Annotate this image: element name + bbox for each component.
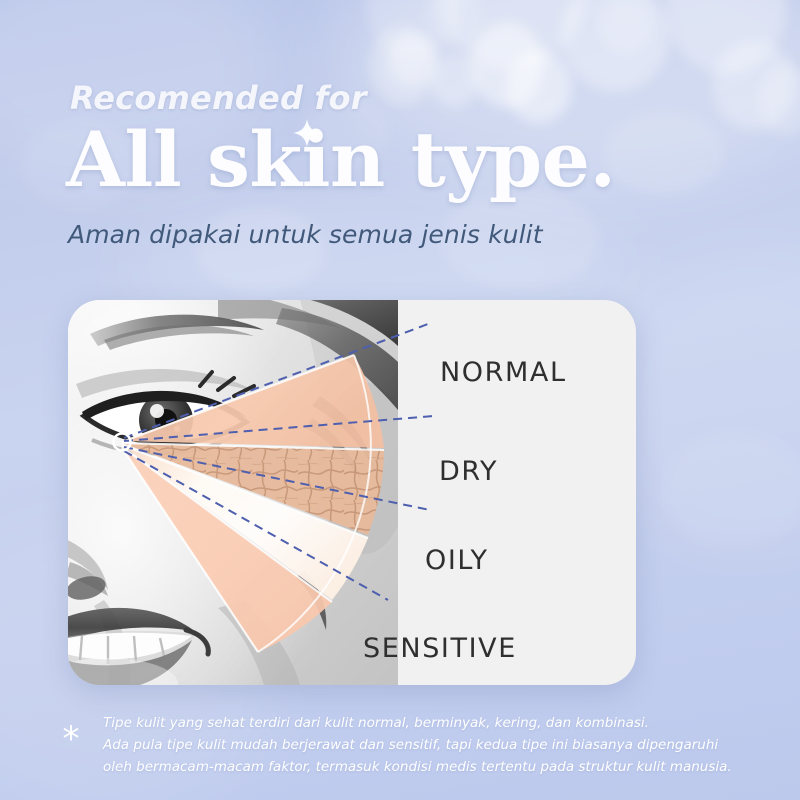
bokeh-circle-1 bbox=[366, 0, 462, 62]
bokeh-circle-12 bbox=[666, 0, 786, 74]
bokeh-circle-10 bbox=[560, 0, 670, 92]
footnote-block: Tipe kulit yang sehat terdiri dari kulit… bbox=[103, 712, 703, 778]
subtitle-text: Aman dipakai untuk semua jenis kulit bbox=[68, 220, 543, 249]
wedge-label-dry: DRY bbox=[439, 456, 498, 487]
bokeh-circle-16 bbox=[604, 110, 724, 196]
bokeh-circle-13 bbox=[712, 40, 796, 130]
bokeh-circle-7 bbox=[430, 52, 480, 108]
footnote-line-1: Tipe kulit yang sehat terdiri dari kulit… bbox=[103, 712, 703, 734]
bokeh-circle-14 bbox=[758, 64, 800, 136]
bokeh-circle-11 bbox=[598, 0, 654, 54]
poster-root: Recomended for All skin type. Aman dipak… bbox=[0, 0, 800, 800]
footnote-line-2: Ada pula tipe kulit mudah berjerawat dan… bbox=[103, 734, 703, 756]
bokeh-circle-3 bbox=[424, 0, 482, 50]
bokeh-circle-5 bbox=[368, 24, 436, 104]
asterisk-icon: * bbox=[58, 724, 84, 754]
footnote-line-3: oleh bermacam-macam faktor, termasuk kon… bbox=[103, 756, 703, 778]
wedge-label-oily: OILY bbox=[425, 545, 489, 576]
bokeh-circle-20 bbox=[660, 430, 800, 550]
bokeh-circle-2 bbox=[372, 28, 442, 108]
kicker-text: Recomended for bbox=[70, 79, 367, 117]
bokeh-circle-9 bbox=[506, 50, 572, 124]
page-title: All skin type. bbox=[66, 122, 615, 198]
wedge-label-normal: NORMAL bbox=[440, 357, 567, 388]
skin-type-card: NORMAL DRY OILY SENSITIVE bbox=[68, 300, 636, 685]
wedge-label-sensitive: SENSITIVE bbox=[363, 633, 517, 664]
bokeh-circle-4 bbox=[436, 0, 586, 70]
bokeh-circle-8 bbox=[388, 34, 436, 86]
wedge-normal bbox=[122, 355, 384, 448]
bokeh-circle-6 bbox=[470, 22, 544, 108]
